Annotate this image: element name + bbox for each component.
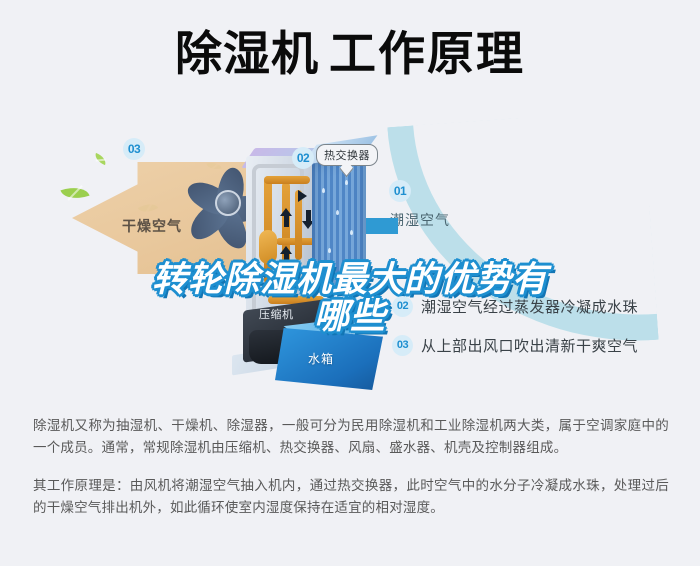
- water-droplet-icon: [322, 188, 325, 193]
- page-title: 除湿机工作原理: [0, 28, 700, 81]
- refrigerant-accumulator: [259, 230, 277, 264]
- flow-arrow-right-icon: [298, 190, 307, 202]
- water-droplet-icon: [336, 210, 339, 215]
- body-copy: 除湿机又称为抽湿机、干燥机、除湿器，一般可分为民用除湿机和工业除湿机两大类，属于…: [33, 415, 669, 535]
- step-badge: 02: [392, 296, 413, 317]
- step-badge: 03: [392, 335, 413, 356]
- dry-air-label: 干燥空气: [122, 216, 182, 236]
- heat-exchanger-callout: 热交换器: [316, 144, 378, 166]
- fan-hub-icon: [215, 190, 241, 216]
- water-tank-label: 水箱: [308, 350, 334, 367]
- diagram-badge-02: 02: [292, 147, 314, 169]
- step-list: 02 潮湿空气经过蒸发器冷凝成水珠 03 从上部出风口吹出清新干爽空气: [392, 296, 692, 374]
- water-droplet-icon: [328, 248, 331, 253]
- list-item: 03 从上部出风口吹出清新干爽空气: [392, 335, 692, 356]
- body-paragraph-2: 其工作原理是：由风机将潮湿空气抽入机内，通过热交换器，此时空气中的水分子冷凝成水…: [33, 475, 669, 519]
- leaf-icon: [60, 182, 89, 203]
- refrigerant-pipe: [264, 176, 310, 184]
- diagram-badge-03: 03: [123, 138, 145, 160]
- list-item: 02 潮湿空气经过蒸发器冷凝成水珠: [392, 296, 692, 317]
- overlay-headline-line-1: 转轮除湿机最大的优势有: [0, 262, 700, 297]
- step-text: 潮湿空气经过蒸发器冷凝成水珠: [421, 296, 638, 317]
- page-title-secondary: 工作原理: [329, 27, 525, 80]
- page-title-primary: 除湿机: [175, 27, 319, 80]
- step-text: 从上部出风口吹出清新干爽空气: [421, 335, 638, 356]
- water-droplet-icon: [345, 180, 348, 185]
- body-paragraph-1: 除湿机又称为抽湿机、干燥机、除湿器，一般可分为民用除湿机和工业除湿机两大类，属于…: [33, 415, 669, 459]
- water-droplet-icon: [350, 230, 353, 235]
- humid-air-label: 潮湿空气: [390, 210, 450, 230]
- leaf-icon: [93, 153, 108, 165]
- diagram-badge-01: 01: [389, 180, 411, 202]
